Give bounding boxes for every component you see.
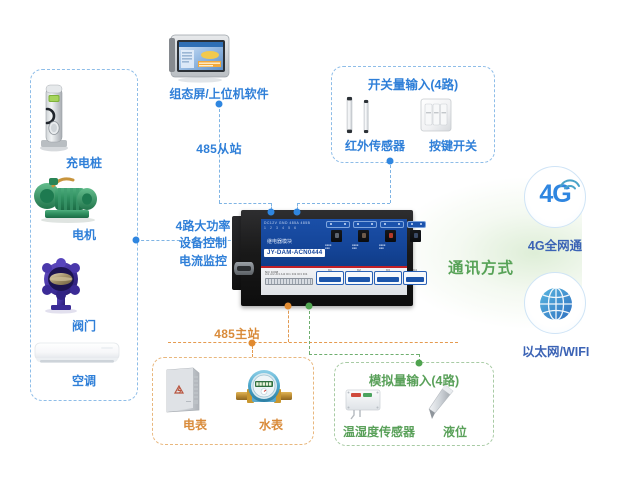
terminal-screws: [265, 278, 313, 285]
diagram-canvas: 充电桩: [0, 0, 618, 497]
relay-channel: ■■■■■■■: [378, 221, 405, 259]
connection-dot-leftpanel: [133, 237, 140, 244]
output-port: K1: [316, 271, 344, 285]
controller-device: DC12V GND 485A 485B 1 2 3 4 5 6 继电器模块 JY…: [241, 210, 413, 306]
ethernet-wifi-badge: 以太网/WIFI: [522, 272, 588, 360]
4g-label: 4G全网通: [522, 235, 588, 254]
output-port-label: K1: [317, 268, 343, 272]
relay-header: [353, 221, 377, 228]
device-temp-humidity-sensor: 温湿度传感器: [337, 387, 421, 440]
relay-block: [410, 230, 421, 242]
relay-block: [358, 230, 369, 242]
lower-terminal-label-2: AI1 AI2 AI3 AI4 DI1 DI2 DI3 DI4: [265, 273, 308, 276]
4g-badge: 4G 4G全网通: [522, 166, 588, 254]
connection-dot-device-top-2: [294, 209, 301, 216]
device-label: 液位: [421, 423, 489, 440]
ethernet-ring: [524, 272, 586, 334]
relay-led: [414, 233, 418, 238]
electricity-meter-icon: [159, 366, 231, 414]
output-port-contact: [406, 277, 424, 282]
motor-icon: [31, 170, 137, 224]
output-port: K3: [374, 271, 402, 285]
connection-dot-device-analog: [306, 303, 313, 310]
connector-hmi-horizontal: [219, 203, 271, 204]
device-label: 按键开关: [416, 137, 490, 154]
globe-icon: [537, 285, 575, 323]
temp-humidity-sensor-icon: [337, 387, 421, 421]
device-label: 温湿度传感器: [337, 423, 421, 440]
relay-led: [389, 233, 393, 238]
hmi-panel: 组态屏/上位机软件: [168, 31, 270, 102]
analog-input-group: 模拟量输入(4路): [334, 362, 494, 446]
connector-di-horizontal: [297, 203, 390, 204]
device-label: 空调: [31, 372, 137, 389]
connection-dot-digital-input: [387, 158, 394, 165]
relay-block: [385, 230, 396, 242]
infrared-sensor-icon: [338, 95, 412, 135]
device-label: 电机: [31, 226, 137, 243]
charging-pile-icon: [31, 82, 137, 152]
controlled-devices-panel: 充电桩: [30, 69, 138, 401]
terminal-row-2: 1 2 3 4 5 6: [264, 226, 298, 230]
output-port-contact: [377, 277, 399, 282]
device-label: 电表: [159, 416, 231, 433]
device-infrared-sensor: 红外传感器: [338, 95, 412, 154]
liquid-level-sensor-icon: [421, 383, 489, 421]
connector-485-drop: [288, 306, 289, 342]
digital-input-group: 开关量输入(4路): [331, 66, 495, 163]
device-water-meter: 水表: [235, 366, 307, 433]
hmi-label: 组态屏/上位机软件: [168, 85, 270, 102]
valve-icon: [31, 255, 137, 315]
relay-led: [362, 233, 366, 238]
push-button-switch-icon: [416, 95, 490, 135]
device-lower-terminal: NO COM AI1 AI2 AI3 AI4 DI1 DI2 DI3 DI4: [264, 270, 312, 283]
device-label: 红外传感器: [338, 137, 412, 154]
output-port-contact: [319, 277, 341, 282]
device-electricity-meter: 电表: [159, 366, 231, 433]
device-motor: 电机: [31, 170, 137, 243]
4g-ring: 4G: [524, 166, 586, 228]
label-485-slave: 485从站: [196, 140, 242, 157]
digital-input-title: 开关量输入(4路): [332, 74, 494, 93]
relay-print: ■■■■■■■: [325, 244, 350, 250]
connection-dot-hmi: [216, 101, 223, 108]
relay-print: ■■■■■■■: [379, 244, 404, 250]
relay-led: [335, 233, 339, 238]
output-port-label: K4: [404, 268, 426, 272]
connector-ai-horizontal: [309, 354, 419, 355]
device-air-conditioner: 空调: [31, 336, 137, 389]
ethernet-label: 以太网/WIFI: [522, 341, 588, 360]
connector-485-bus: [168, 342, 458, 343]
device-valve: 阀门: [31, 255, 137, 334]
water-meter-icon: [235, 366, 307, 414]
relay-header: [326, 221, 350, 228]
output-port: K2: [345, 271, 373, 285]
wifi-arc-icon: [559, 177, 581, 191]
relay-channel: ■■■■■■■: [324, 221, 351, 259]
db9-connector: [234, 262, 254, 275]
relay-header: [380, 221, 404, 228]
communication-title: 通讯方式: [448, 256, 514, 278]
meter-group: 电表: [152, 357, 314, 445]
device-top-terminal-print: DC12V GND 485A 485B 1 2 3 4 5 6: [264, 221, 320, 233]
connection-dot-device-top-1: [268, 209, 275, 216]
connection-dot-analog-group: [416, 360, 423, 367]
device-label: 水表: [235, 416, 307, 433]
output-port-contact: [348, 277, 370, 282]
device-model-label: JY-DAM-ACN0444: [264, 249, 325, 257]
relay-channel: ■■■■■■■: [351, 221, 378, 259]
relay-header: [407, 221, 426, 228]
device-push-button-switch: 按键开关: [416, 95, 490, 154]
relay-channel: [405, 221, 427, 259]
relay-print: ■■■■■■■: [352, 244, 377, 250]
connector-ai-vertical: [309, 306, 310, 354]
output-port: K4: [403, 271, 427, 285]
connection-dot-485-bus: [249, 340, 256, 347]
device-charging-pile: 充电桩: [31, 82, 137, 171]
relay-block: [331, 230, 342, 242]
terminal-row-1: DC12V GND 485A 485B: [264, 221, 310, 225]
hmi-screen-icon: [168, 31, 270, 83]
device-label: 阀门: [31, 317, 137, 334]
air-conditioner-icon: [31, 336, 137, 370]
output-port-label: K2: [346, 268, 372, 272]
output-port-label: K3: [375, 268, 401, 272]
connector-di-vertical: [390, 160, 391, 203]
device-label: 充电桩: [31, 154, 137, 171]
connection-dot-device-485: [285, 303, 292, 310]
device-brand-text: 继电器模块: [267, 238, 292, 245]
device-liquid-level-sensor: 液位: [421, 383, 489, 440]
